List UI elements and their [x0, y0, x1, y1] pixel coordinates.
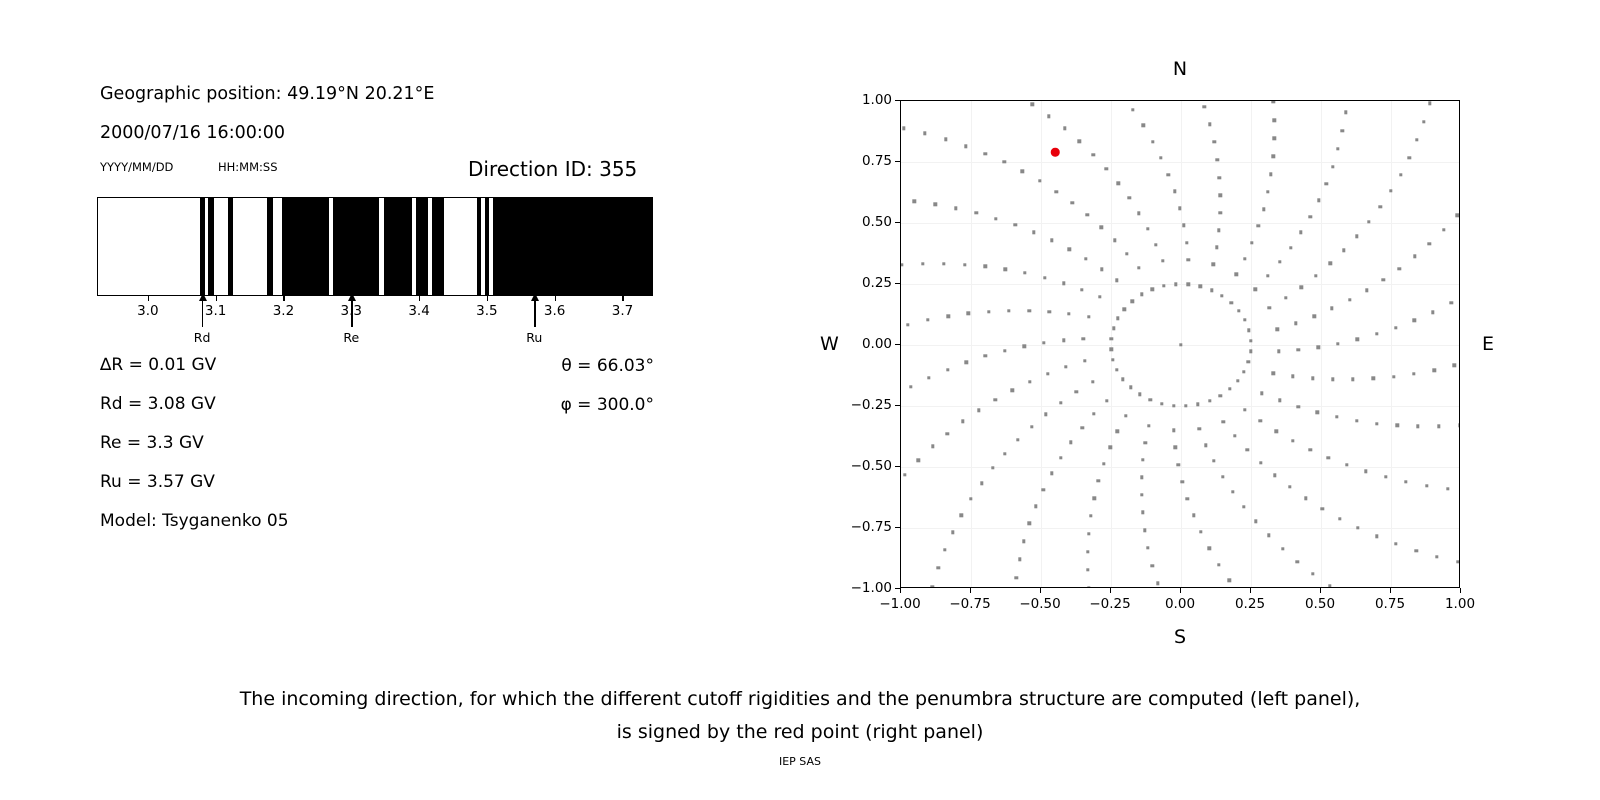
penumbra-x-tick-label: 3.5 — [476, 303, 497, 319]
direction-dot — [1046, 372, 1049, 375]
direction-dot — [1174, 446, 1177, 449]
direction-dot — [1086, 550, 1089, 553]
direction-dot — [1389, 189, 1392, 192]
direction-dot — [977, 408, 980, 411]
direction-dot — [1022, 539, 1025, 542]
penumbra-forbidden-band — [493, 198, 653, 295]
penumbra-forbidden-band — [477, 198, 481, 295]
param-re: Re = 3.3 GV — [100, 433, 204, 453]
direction-dot — [1242, 370, 1245, 373]
direction-dot — [926, 318, 929, 321]
direction-dot — [1055, 190, 1058, 193]
gridline-horizontal — [901, 528, 1459, 529]
arrow-up-icon — [531, 293, 539, 301]
direction-dot — [1100, 267, 1103, 270]
direction-dot — [1331, 165, 1334, 168]
direction-dot — [1199, 530, 1202, 533]
direction-dot — [1131, 299, 1134, 302]
direction-dot — [1179, 343, 1182, 346]
gridline-vertical — [1321, 101, 1322, 587]
sky-map-x-tick-label: −0.75 — [949, 596, 990, 612]
direction-dot — [1273, 137, 1276, 140]
direction-dot — [903, 473, 906, 476]
direction-dot — [1272, 100, 1275, 103]
direction-dot — [954, 206, 957, 209]
direction-dot — [1392, 375, 1395, 378]
direction-dot — [1324, 182, 1327, 185]
gridline-vertical — [1391, 101, 1392, 587]
direction-dot — [1140, 476, 1143, 479]
direction-dot — [1278, 260, 1281, 263]
direction-dot — [1348, 298, 1351, 301]
sky-map-x-tick-label: −0.50 — [1019, 596, 1060, 612]
direction-dot — [1069, 441, 1072, 444]
direction-dot — [1078, 140, 1081, 143]
direction-dot — [1003, 452, 1006, 455]
direction-dot — [1312, 315, 1315, 318]
direction-dot — [1356, 338, 1359, 341]
direction-dot — [1111, 358, 1114, 361]
direction-dot — [967, 312, 970, 315]
direction-dot — [1172, 404, 1175, 407]
direction-dot — [1437, 425, 1440, 428]
sky-map-x-tick — [1040, 588, 1041, 593]
compass-label-west: W — [820, 333, 839, 355]
penumbra-x-tick-label: 3.0 — [137, 303, 158, 319]
direction-dot — [1291, 374, 1294, 377]
direction-dot — [1367, 220, 1370, 223]
direction-dot — [991, 466, 994, 469]
penumbra-x-tick-label: 3.7 — [612, 303, 633, 319]
direction-dot — [1027, 309, 1030, 312]
direction-dot — [1329, 262, 1332, 265]
direction-dot — [1288, 485, 1291, 488]
direction-dot — [1364, 470, 1367, 473]
direction-dot — [1047, 310, 1050, 313]
gridline-horizontal — [901, 284, 1459, 285]
direction-dot — [1184, 404, 1187, 407]
direction-dot — [1455, 214, 1458, 217]
direction-dot — [917, 458, 920, 461]
direction-dot — [1289, 246, 1292, 249]
direction-dot — [1218, 176, 1221, 179]
direction-dot — [1399, 173, 1402, 176]
direction-dot — [1063, 127, 1066, 130]
direction-dot — [1105, 399, 1108, 402]
sky-map-x-tick-label: 0.50 — [1305, 596, 1335, 612]
direction-dot — [1087, 532, 1090, 535]
marker-shaft — [351, 300, 352, 327]
direction-dot — [1104, 167, 1107, 170]
sky-map-y-tick — [895, 283, 900, 284]
direction-dot — [1442, 228, 1445, 231]
sky-map-x-tick — [1250, 588, 1251, 593]
direction-dot — [1321, 507, 1324, 510]
direction-dot — [1356, 526, 1359, 529]
direction-dot — [1336, 342, 1339, 345]
direction-dot — [1299, 231, 1302, 234]
sky-map-y-tick — [895, 344, 900, 345]
direction-dot — [1087, 315, 1090, 318]
direction-dot — [1089, 514, 1092, 517]
penumbra-plot-frame — [97, 197, 653, 296]
direction-dot — [1231, 490, 1234, 493]
direction-dot — [1371, 377, 1374, 380]
direction-dot — [1150, 564, 1153, 567]
direction-dot — [1086, 568, 1089, 571]
penumbra-x-tick — [216, 296, 217, 301]
param-rd: Rd = 3.08 GV — [100, 394, 216, 414]
direction-dot — [1208, 399, 1211, 402]
direction-dot — [1198, 285, 1201, 288]
direction-dot — [1219, 394, 1222, 397]
direction-dot — [1365, 289, 1368, 292]
direction-id-text: Direction ID: 355 — [468, 157, 637, 181]
direction-dot — [1084, 257, 1087, 260]
sky-map-y-tick — [895, 527, 900, 528]
direction-dot — [1042, 341, 1045, 344]
caption-line-1: The incoming direction, for which the di… — [0, 683, 1600, 716]
direction-dot — [1080, 288, 1083, 291]
direction-dot — [1435, 555, 1438, 558]
direction-dot — [946, 314, 949, 317]
gridline-horizontal — [901, 406, 1459, 407]
penumbra-chart — [97, 197, 653, 296]
direction-dot — [1062, 338, 1065, 341]
direction-dot — [1331, 378, 1334, 381]
direction-dot — [1086, 213, 1089, 216]
direction-dot — [1382, 278, 1385, 281]
direction-dot — [1137, 266, 1140, 269]
direction-dot — [1042, 488, 1045, 491]
direction-dot — [1284, 296, 1287, 299]
direction-dot — [1186, 497, 1189, 500]
sky-map-y-tick-label: 0.50 — [834, 214, 892, 230]
sky-map-y-tick — [895, 405, 900, 406]
sky-map-x-tick — [1460, 588, 1461, 593]
direction-dot — [1266, 274, 1269, 277]
penumbra-forbidden-band — [416, 198, 427, 295]
param-model: Model: Tsyganenko 05 — [100, 511, 289, 531]
caption-line-2: is signed by the red point (right panel) — [0, 716, 1600, 749]
sky-map-x-tick — [1110, 588, 1111, 593]
date-format-hint: YYYY/MM/DD — [100, 160, 173, 174]
penumbra-x-tick — [148, 296, 149, 301]
direction-dot — [921, 262, 924, 265]
direction-dot — [1249, 339, 1252, 342]
direction-dot — [1242, 505, 1245, 508]
gridline-horizontal — [901, 162, 1459, 163]
direction-dot — [1230, 301, 1233, 304]
direction-dot — [1067, 312, 1070, 315]
direction-dot — [1075, 390, 1078, 393]
datetime-text: 2000/07/16 16:00:00 — [100, 123, 285, 143]
direction-dot — [927, 376, 930, 379]
sky-map-x-tick — [1320, 588, 1321, 593]
direction-dot — [983, 265, 986, 268]
direction-dot — [1394, 326, 1397, 329]
direction-dot — [1082, 337, 1085, 340]
direction-dot — [1043, 276, 1046, 279]
direction-dot — [1013, 223, 1016, 226]
direction-dot — [1108, 446, 1111, 449]
marker-label: Re — [343, 330, 359, 345]
direction-dot — [1394, 542, 1397, 545]
direction-dot — [1309, 215, 1312, 218]
direction-dot — [1341, 129, 1344, 132]
direction-dot — [1247, 360, 1250, 363]
direction-dot — [1316, 411, 1319, 414]
direction-dot — [1162, 284, 1165, 287]
direction-dot — [1413, 319, 1416, 322]
direction-dot — [1092, 153, 1095, 156]
direction-dot — [1116, 430, 1119, 433]
direction-dot — [1147, 424, 1150, 427]
direction-dot — [1137, 212, 1140, 215]
sky-map-y-tick-label: −0.75 — [834, 519, 892, 535]
marker-label: Rd — [194, 330, 211, 345]
sky-map-y-tick-label: 0.25 — [834, 275, 892, 291]
gridline-horizontal — [901, 223, 1459, 224]
direction-dot — [1181, 480, 1184, 483]
direction-dot — [1028, 380, 1031, 383]
direction-dot — [1028, 522, 1031, 525]
direction-dot — [1185, 241, 1188, 244]
sky-map-x-tick-label: 0.75 — [1375, 596, 1405, 612]
direction-dot — [1375, 422, 1378, 425]
direction-dot — [1243, 257, 1246, 260]
time-format-hint: HH:MM:SS — [218, 160, 278, 174]
penumbra-forbidden-band — [200, 198, 205, 295]
penumbra-forbidden-band — [267, 198, 273, 295]
direction-dot — [909, 385, 912, 388]
direction-dot — [946, 432, 949, 435]
direction-dot — [1449, 301, 1452, 304]
direction-dot — [1083, 359, 1086, 362]
direction-dot — [1273, 118, 1276, 121]
sky-map-x-tick — [970, 588, 971, 593]
direction-dot — [1342, 249, 1345, 252]
direction-dot — [1092, 412, 1095, 415]
direction-dot — [1004, 268, 1007, 271]
direction-dot — [1304, 497, 1307, 500]
sky-map-y-tick-label: 0.00 — [834, 336, 892, 352]
direction-dot — [1235, 273, 1238, 276]
sky-map-plot-frame — [900, 100, 1460, 588]
direction-dot — [1408, 156, 1411, 159]
arrow-up-icon — [199, 293, 207, 301]
marker-shaft — [534, 300, 535, 327]
direction-dot — [1050, 239, 1053, 242]
penumbra-forbidden-band — [228, 198, 234, 295]
direction-dot — [974, 211, 977, 214]
penumbra-forbidden-band — [384, 198, 412, 295]
sky-map-x-tick-label: 1.00 — [1445, 596, 1475, 612]
direction-dot — [1294, 321, 1297, 324]
direction-dot — [1212, 459, 1215, 462]
sky-map-x-tick-label: −1.00 — [879, 596, 920, 612]
direction-dot — [923, 132, 926, 135]
direction-dot — [984, 152, 987, 155]
direction-dot — [1355, 419, 1358, 422]
sky-map-y-tick — [895, 466, 900, 467]
param-phi: φ = 300.0° — [561, 395, 654, 415]
penumbra-forbidden-band — [485, 198, 489, 295]
direction-dot — [1031, 103, 1034, 106]
direction-dot — [1212, 140, 1215, 143]
direction-dot — [1003, 349, 1006, 352]
direction-dot — [1192, 514, 1195, 517]
direction-dot — [1110, 337, 1113, 340]
direction-dot — [1453, 364, 1456, 367]
penumbra-x-tick — [419, 296, 420, 301]
marker-label: Ru — [526, 330, 542, 345]
direction-dot — [1067, 248, 1070, 251]
penumbra-forbidden-band — [333, 198, 378, 295]
direction-dot — [1220, 294, 1223, 297]
sky-map-x-tick-label: −0.25 — [1089, 596, 1130, 612]
gridline-horizontal — [901, 467, 1459, 468]
penumbra-forbidden-band — [432, 198, 444, 295]
direction-dot — [1297, 348, 1300, 351]
direction-dot — [1131, 108, 1134, 111]
direction-dot — [1203, 105, 1206, 108]
sky-map-y-tick-label: 0.75 — [834, 153, 892, 169]
direction-dot — [1032, 231, 1035, 234]
direction-dot — [1113, 239, 1116, 242]
sky-map-x-tick — [1390, 588, 1391, 593]
direction-dot — [1174, 282, 1177, 285]
direction-dot — [1124, 414, 1127, 417]
direction-dot — [1257, 224, 1260, 227]
direction-dot — [1338, 517, 1341, 520]
direction-dot — [1425, 484, 1428, 487]
direction-dot — [1112, 327, 1115, 330]
direction-dot — [1456, 560, 1459, 563]
sky-map-x-tick — [900, 588, 901, 593]
arrow-up-icon — [348, 293, 356, 301]
direction-dot — [1221, 475, 1224, 478]
direction-dot — [934, 203, 937, 206]
direction-dot — [1208, 123, 1211, 126]
direction-dot — [1187, 258, 1190, 261]
direction-dot — [1146, 227, 1149, 230]
direction-dot — [1228, 387, 1231, 390]
direction-dot — [1222, 420, 1225, 423]
direction-dot — [1375, 332, 1378, 335]
direction-dot — [961, 420, 964, 423]
direction-dot — [1351, 378, 1354, 381]
direction-dot — [1260, 391, 1263, 394]
direction-dot — [1262, 207, 1265, 210]
direction-dot — [1296, 560, 1299, 563]
sky-map-x-tick-label: 0.25 — [1235, 596, 1265, 612]
direction-dot — [1080, 426, 1083, 429]
direction-dot — [1204, 443, 1207, 446]
direction-dot — [1314, 274, 1317, 277]
penumbra-forbidden-band — [282, 198, 329, 295]
sky-map-y-tick-label: −0.25 — [834, 397, 892, 413]
direction-dot — [1281, 547, 1284, 550]
direction-dot — [1384, 475, 1387, 478]
direction-dot — [1299, 286, 1302, 289]
direction-dot — [1316, 346, 1319, 349]
direction-dot — [1219, 211, 1222, 214]
param-ru: Ru = 3.57 GV — [100, 472, 215, 492]
direction-dot — [1268, 306, 1271, 309]
sky-map-y-tick — [895, 100, 900, 101]
direction-dot — [1007, 309, 1010, 312]
direction-dot — [1059, 456, 1062, 459]
direction-dot — [1254, 288, 1257, 291]
direction-dot — [1023, 344, 1026, 347]
direction-dot — [906, 323, 909, 326]
direction-dot — [1123, 308, 1126, 311]
right-panel: −1.00−0.75−0.50−0.250.000.250.500.751.00… — [820, 40, 1520, 660]
direction-dot — [1217, 228, 1220, 231]
direction-dot — [1273, 474, 1276, 477]
direction-dot — [1021, 170, 1024, 173]
direction-dot — [1335, 415, 1338, 418]
direction-dot — [1127, 196, 1130, 199]
direction-dot — [1428, 242, 1431, 245]
direction-dot — [1109, 348, 1112, 351]
direction-dot — [1330, 307, 1333, 310]
direction-dot — [1047, 114, 1050, 117]
direction-dot — [1161, 259, 1164, 262]
penumbra-x-tick — [283, 296, 284, 301]
direction-dot — [1259, 461, 1262, 464]
direction-dot — [1044, 413, 1047, 416]
direction-dot — [987, 310, 990, 313]
direction-dot — [1159, 156, 1162, 159]
direction-dot — [1210, 288, 1213, 291]
direction-dot — [1098, 295, 1101, 298]
direction-dot — [1050, 472, 1053, 475]
marker-shaft — [202, 300, 203, 327]
direction-dot — [1144, 441, 1147, 444]
direction-dot — [1173, 190, 1176, 193]
direction-dot — [1309, 448, 1312, 451]
compass-label-south: S — [1174, 626, 1186, 648]
penumbra-forbidden-band — [208, 198, 214, 295]
direction-dot — [1243, 318, 1246, 321]
direction-dot — [1236, 379, 1239, 382]
direction-dot — [1059, 401, 1062, 404]
direction-dot — [1297, 405, 1300, 408]
direction-dot — [1267, 533, 1270, 536]
direction-dot — [1141, 511, 1144, 514]
direction-dot — [1416, 425, 1419, 428]
direction-dot — [946, 368, 949, 371]
direction-dot — [1243, 408, 1246, 411]
direction-dot — [1167, 173, 1170, 176]
direction-dot — [1215, 246, 1218, 249]
direction-dot — [969, 497, 972, 500]
direction-dot — [1125, 252, 1128, 255]
direction-dot — [1355, 235, 1358, 238]
direction-dot — [1272, 155, 1275, 158]
direction-dot — [1146, 546, 1149, 549]
direction-dot — [1115, 368, 1118, 371]
direction-dot — [1431, 310, 1434, 313]
direction-dot — [931, 445, 934, 448]
direction-dot — [1143, 528, 1146, 531]
gridline-vertical — [1251, 101, 1252, 587]
direction-dot — [1196, 402, 1199, 405]
direction-dot — [1328, 584, 1331, 587]
gridline-vertical — [1111, 101, 1112, 587]
